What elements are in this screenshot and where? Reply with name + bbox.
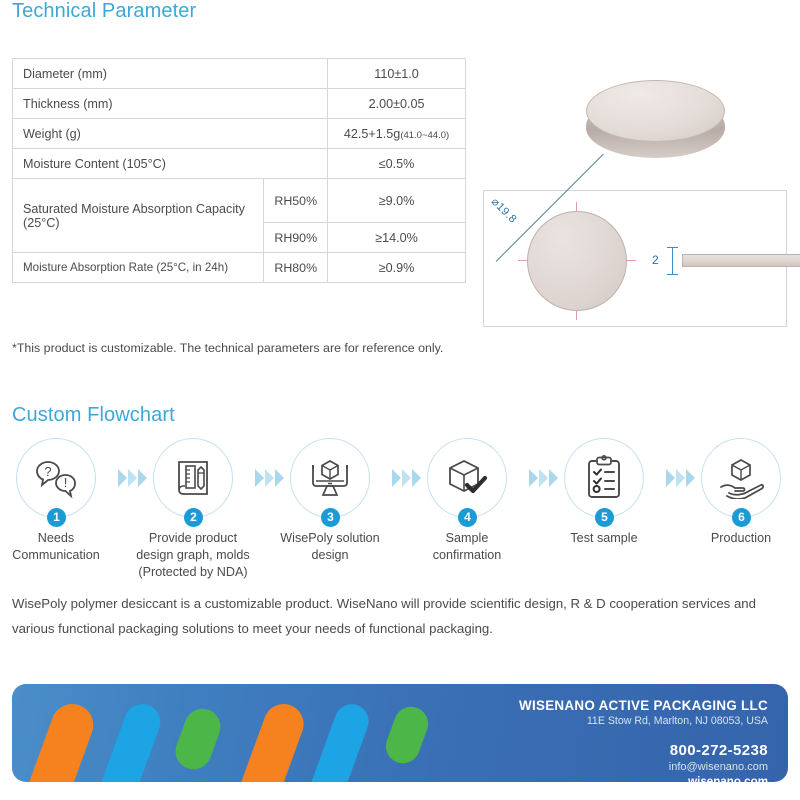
row-value-main: 42.5+1.5g <box>344 127 400 141</box>
row-label: Diameter (mm) <box>13 59 328 89</box>
row-rh: RH50% <box>264 179 328 223</box>
step-4-label: Sampleconfirmation <box>397 530 537 564</box>
chevron-right-icon <box>265 469 274 487</box>
blueprint-icon <box>171 456 215 500</box>
table-row: Moisture Absorption Rate (25°C, in 24h) … <box>13 253 466 283</box>
row-value: ≤0.5% <box>328 149 466 179</box>
flow-arrow-5 <box>654 468 706 488</box>
step-6-label: Production <box>671 530 800 547</box>
custom-flowchart: ? ! 1 NeedsCommunication 2 Provide produ… <box>0 438 800 588</box>
row-value: 2.00±0.05 <box>328 89 466 119</box>
disc-top-face <box>586 80 725 142</box>
step-3-label: WisePoly solutiondesign <box>260 530 400 564</box>
product-disc-photo <box>578 76 733 172</box>
speech-bubbles-icon: ? ! <box>33 457 79 499</box>
table-row: Saturated Moisture Absorption Capacity (… <box>13 179 466 223</box>
side-view-bar <box>682 254 800 267</box>
footer-email[interactable]: info@wisenano.com <box>519 761 768 773</box>
row-label: Moisture Absorption Rate (25°C, in 24h) <box>13 253 264 283</box>
chevron-right-icon <box>529 469 538 487</box>
chevron-right-icon <box>676 469 685 487</box>
capsule-orange <box>23 698 99 782</box>
chevron-right-icon <box>686 469 695 487</box>
chevron-right-icon <box>138 469 147 487</box>
chevron-right-icon <box>412 469 421 487</box>
step-6-circle <box>701 438 781 518</box>
step-4-circle <box>427 438 507 518</box>
row-rh: RH80% <box>264 253 328 283</box>
step-1-circle: ? ! <box>16 438 96 518</box>
row-value: ≥0.9% <box>328 253 466 283</box>
technical-drawing-box: ⌀19.8 2 <box>483 190 787 327</box>
row-value: ≥9.0% <box>328 179 466 223</box>
step-1-number: 1 <box>47 508 66 527</box>
step-5-label: Test sample <box>534 530 674 547</box>
chevron-right-icon <box>402 469 411 487</box>
step-5-circle <box>564 438 644 518</box>
row-value: ≥14.0% <box>328 223 466 253</box>
chevron-right-icon <box>666 469 675 487</box>
page-title-custom-flowchart: Custom Flowchart <box>12 404 175 427</box>
footer-phone[interactable]: 800-272-5238 <box>519 742 768 759</box>
flow-arrow-2 <box>243 468 295 488</box>
capsule-orange <box>235 698 310 782</box>
footer-website[interactable]: wisenano.com <box>519 775 768 782</box>
svg-text:!: ! <box>64 475 68 490</box>
capsule-green <box>381 702 433 768</box>
step-2-number: 2 <box>184 508 203 527</box>
svg-text:?: ? <box>44 464 51 479</box>
diameter-dimension-label: ⌀19.8 <box>489 195 520 226</box>
footer-address: 11E Stow Rd, Marlton, NJ 08053, USA <box>519 715 768 727</box>
row-value-note: (41.0~44.0) <box>400 130 449 141</box>
thickness-dimension-cap-top <box>667 247 678 248</box>
capsule-green <box>170 704 225 775</box>
footer-banner: WISENANO ACTIVE PACKAGING LLC 11E Stow R… <box>12 684 788 782</box>
step-2-label: Provide productdesign graph, molds(Prote… <box>123 530 263 581</box>
chevron-right-icon <box>392 469 401 487</box>
footer-contact-block: WISENANO ACTIVE PACKAGING LLC 11E Stow R… <box>519 698 768 782</box>
table-row: Moisture Content (105°C) ≤0.5% <box>13 149 466 179</box>
hand-box-icon <box>717 457 765 499</box>
step-3-number: 3 <box>321 508 340 527</box>
chevron-right-icon <box>128 469 137 487</box>
table-row: Weight (g) 42.5+1.5g(41.0~44.0) <box>13 119 466 149</box>
thickness-dimension-label: 2 <box>652 253 659 267</box>
clipboard-checklist-icon <box>584 455 624 501</box>
footer-company-name: WISENANO ACTIVE PACKAGING LLC <box>519 698 768 713</box>
row-value: 110±1.0 <box>328 59 466 89</box>
chevron-right-icon <box>539 469 548 487</box>
step-2-circle <box>153 438 233 518</box>
chevron-right-icon <box>549 469 558 487</box>
table-row: Diameter (mm) 110±1.0 <box>13 59 466 89</box>
chevron-right-icon <box>118 469 127 487</box>
row-label: Thickness (mm) <box>13 89 328 119</box>
table-row: Thickness (mm) 2.00±0.05 <box>13 89 466 119</box>
chevron-right-icon <box>275 469 284 487</box>
row-label: Saturated Moisture Absorption Capacity (… <box>13 179 264 253</box>
row-label: Weight (g) <box>13 119 328 149</box>
capsule-blue <box>305 699 374 782</box>
step-1-label: NeedsCommunication <box>0 530 126 564</box>
row-rh: RH90% <box>264 223 328 253</box>
thickness-dimension-line <box>672 247 673 274</box>
top-view-circle <box>527 211 627 311</box>
monitor-cube-icon <box>307 457 353 499</box>
flow-arrow-1 <box>106 468 158 488</box>
step-5-number: 5 <box>595 508 614 527</box>
table-disclaimer: *This product is customizable. The techn… <box>12 341 443 355</box>
step-3-circle <box>290 438 370 518</box>
row-value: 42.5+1.5g(41.0~44.0) <box>328 119 466 149</box>
flow-arrow-3 <box>380 468 432 488</box>
step-6-number: 6 <box>732 508 751 527</box>
flow-arrow-4 <box>517 468 569 488</box>
row-label: Moisture Content (105°C) <box>13 149 328 179</box>
box-check-icon <box>444 456 490 500</box>
chevron-right-icon <box>255 469 264 487</box>
capsule-blue <box>95 699 166 782</box>
description-paragraph: WisePoly polymer desiccant is a customiz… <box>12 591 790 641</box>
technical-parameter-table: Diameter (mm) 110±1.0 Thickness (mm) 2.0… <box>12 58 466 283</box>
page-title-technical-parameter: Technical Parameter <box>12 0 196 23</box>
thickness-dimension-cap-bottom <box>667 274 678 275</box>
step-4-number: 4 <box>458 508 477 527</box>
